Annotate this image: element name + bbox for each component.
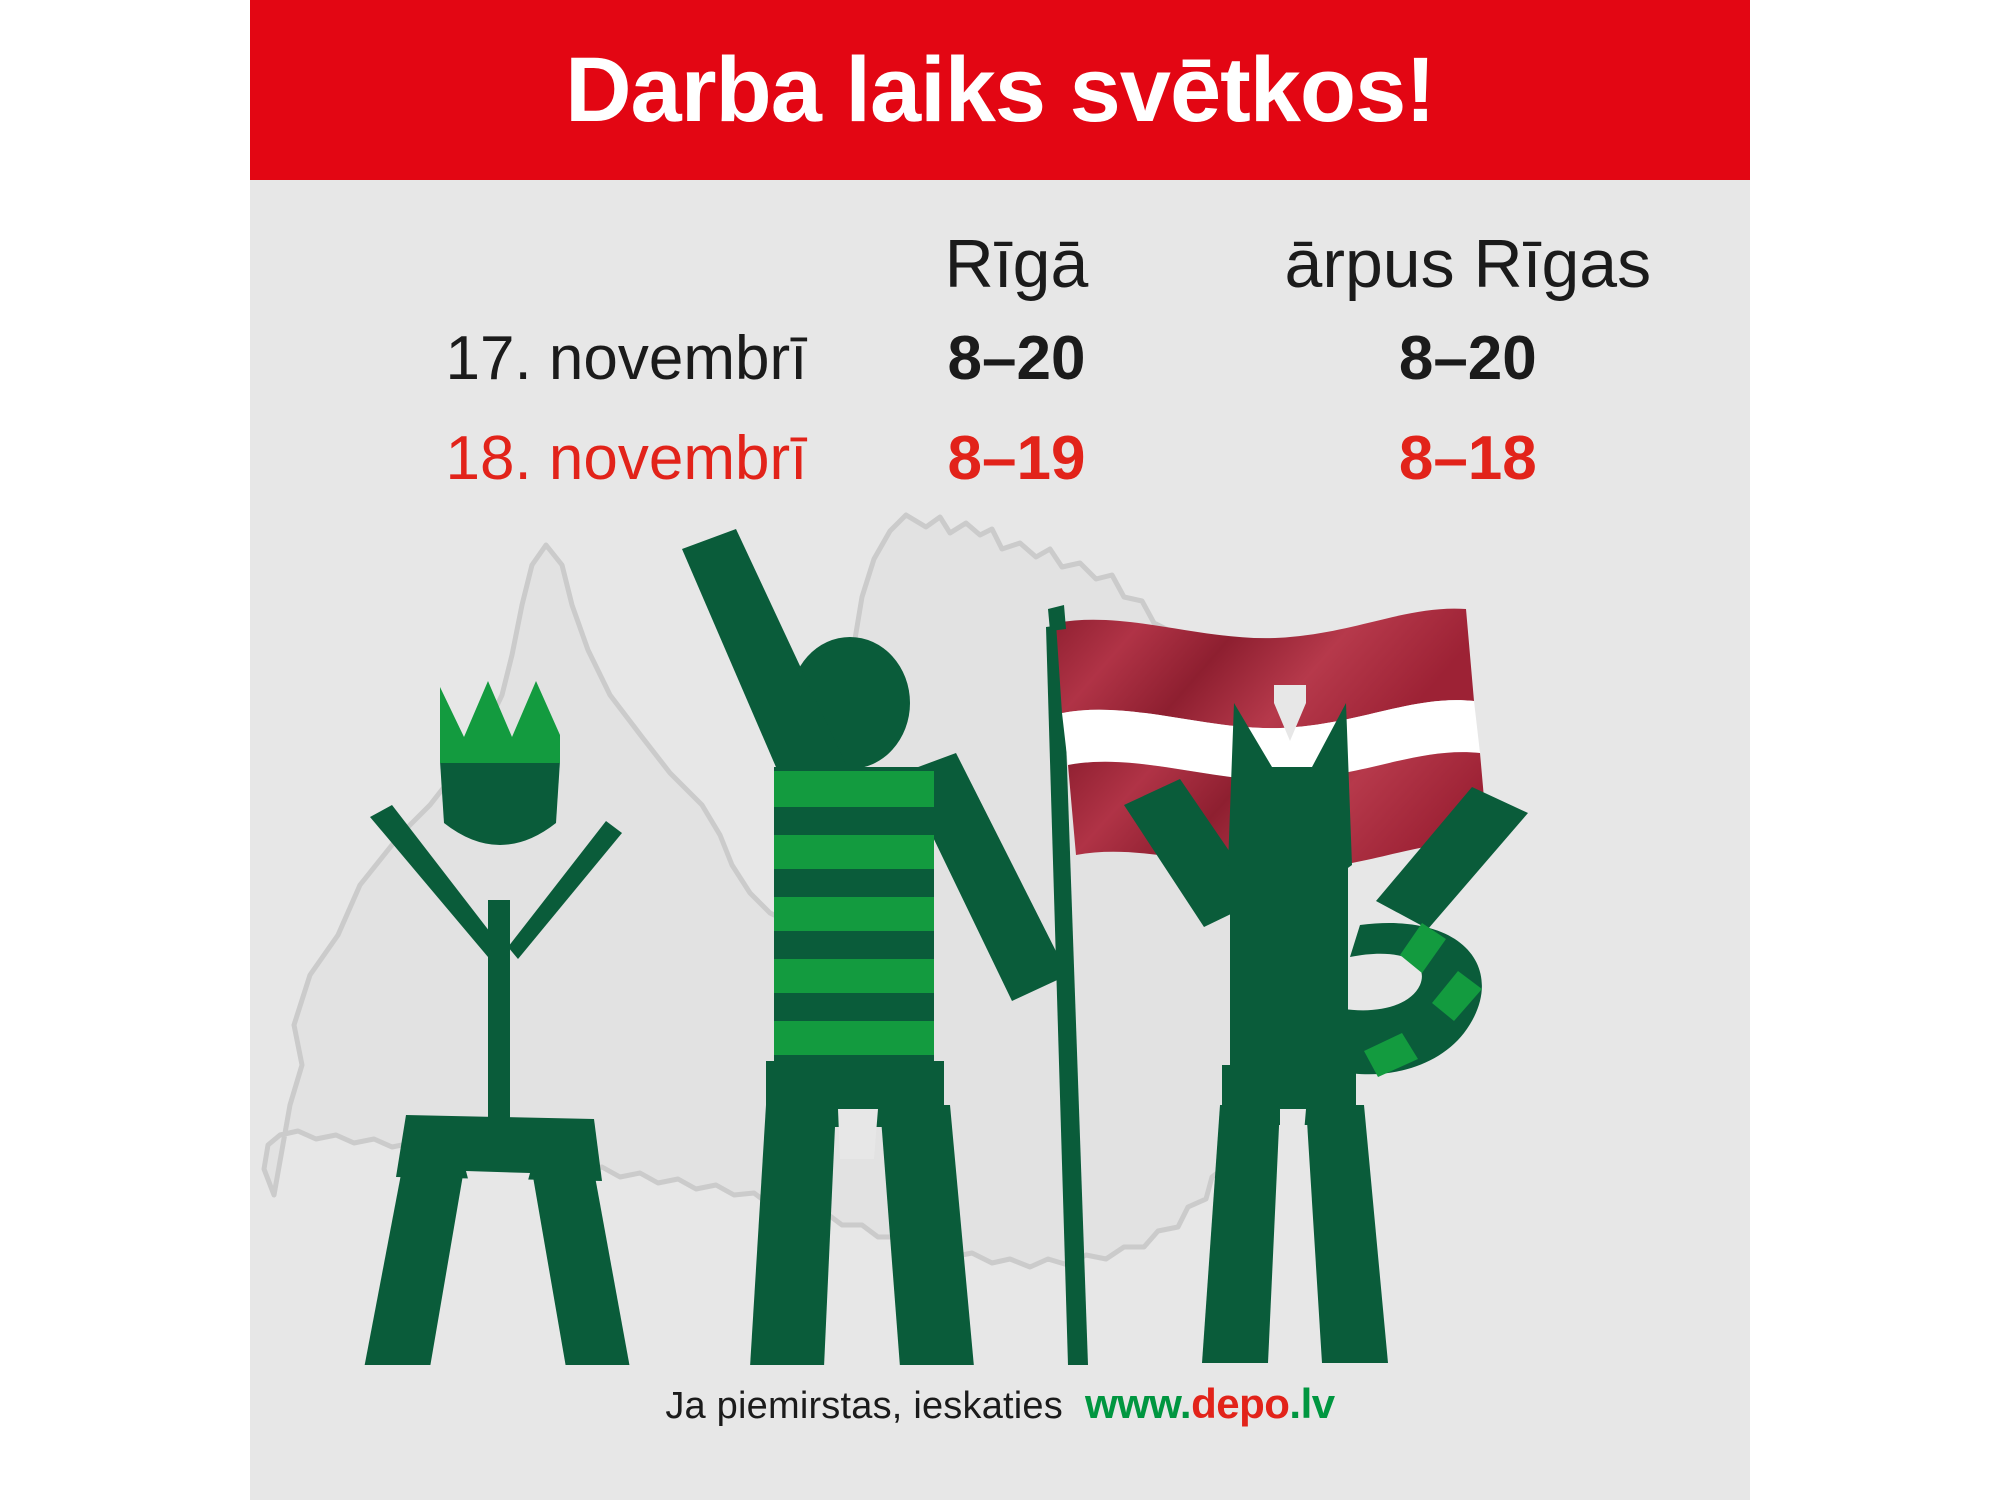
opening-hours-section: Rīgā ārpus Rīgas 17. novembrī 8–20 8–20 … <box>250 190 1750 500</box>
column-header-outside-riga: ārpus Rīgas <box>1226 190 1710 300</box>
opening-hours-table: Rīgā ārpus Rīgas 17. novembrī 8–20 8–20 … <box>290 190 1710 500</box>
footer-note: Ja piemirstas, ieskaties <box>665 1385 1063 1427</box>
header-banner: Darba laiks svētkos! <box>250 0 1750 180</box>
table-row: 18. novembrī 8–19 8–18 <box>290 400 1710 500</box>
row-label-date: 17. novembrī <box>290 300 807 400</box>
row-label-date: 18. novembrī <box>290 400 807 500</box>
row-value-outside-riga: 8–18 <box>1226 400 1710 500</box>
row-value-riga: 8–20 <box>807 300 1225 400</box>
column-header-riga: Rīgā <box>807 190 1225 300</box>
table-row: 17. novembrī 8–20 8–20 <box>290 300 1710 400</box>
row-value-outside-riga: 8–20 <box>1226 300 1710 400</box>
column-header-blank <box>290 190 807 300</box>
table-header-row: Rīgā ārpus Rīgas <box>290 190 1710 300</box>
poster-canvas: Darba laiks svētkos! Rīgā ārpus Rīgas 17… <box>250 0 1750 1500</box>
url-part-depo: depo <box>1191 1380 1289 1427</box>
website-url[interactable]: www.depo.lv <box>1085 1380 1335 1427</box>
page-title: Darba laiks svētkos! <box>565 44 1435 136</box>
footer: Ja piemirstas, ieskatieswww.depo.lv <box>250 1380 1750 1428</box>
url-part-www: www. <box>1085 1380 1191 1427</box>
illustration-area <box>250 505 1750 1365</box>
url-part-tld: .lv <box>1289 1380 1334 1427</box>
row-value-riga: 8–19 <box>807 400 1225 500</box>
